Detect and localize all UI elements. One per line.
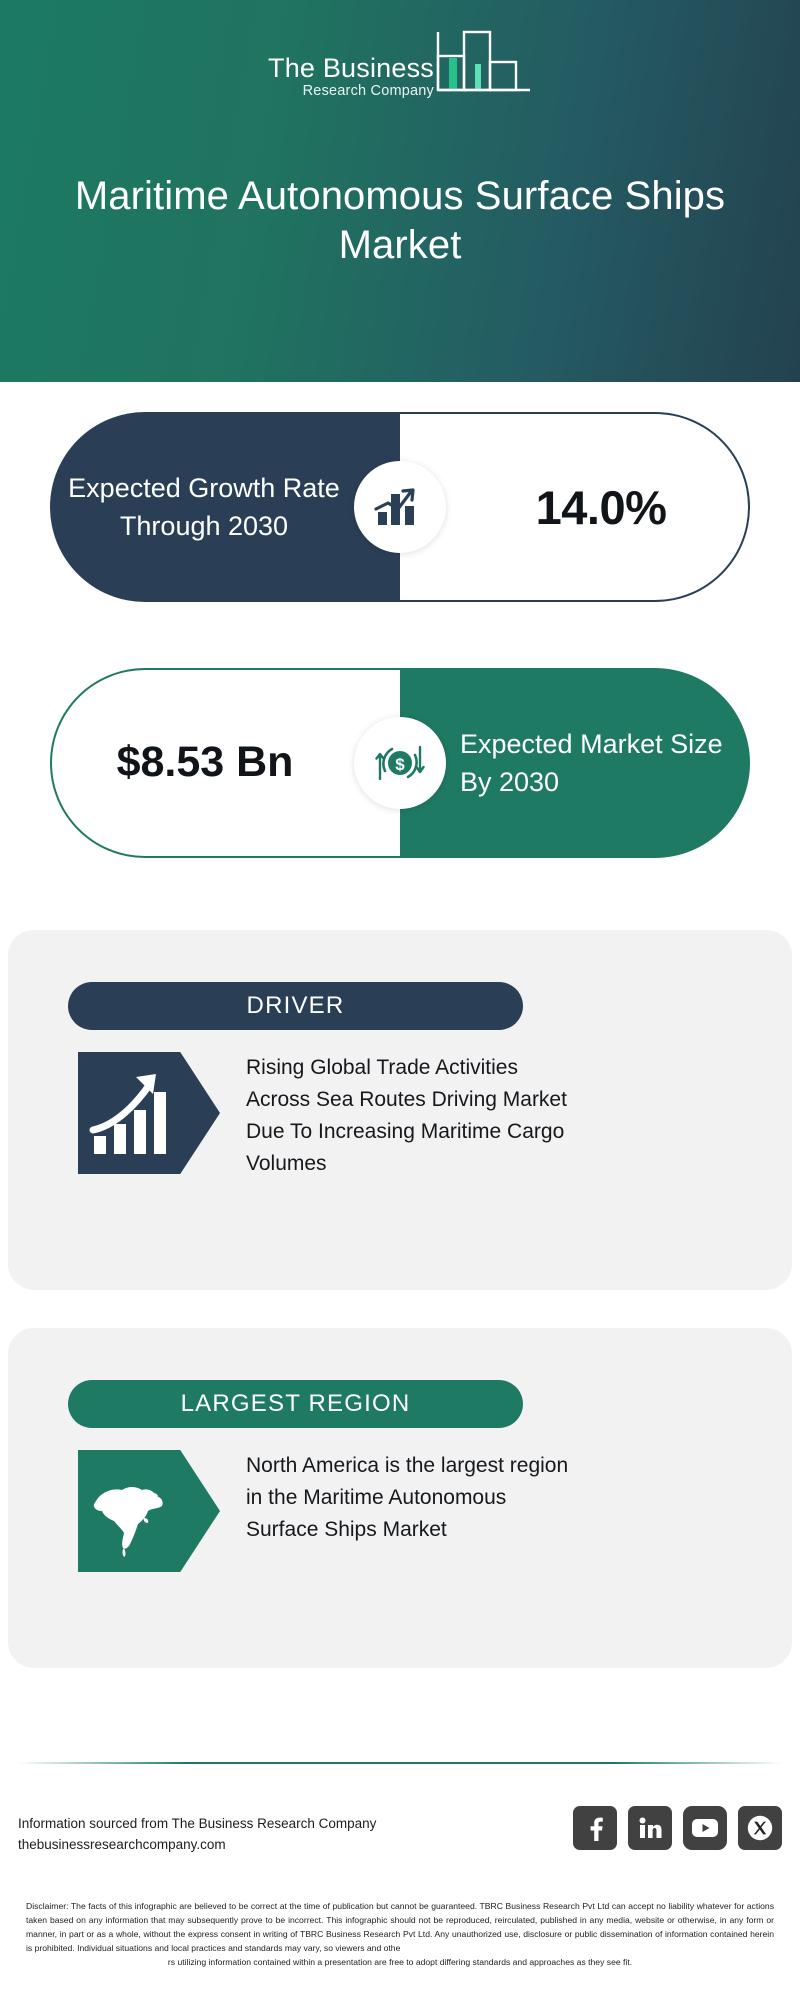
stat-label-panel: Expected Market Size By 2030 [400, 668, 750, 858]
disclaimer-text: Disclaimer: The facts of this infographi… [26, 1900, 774, 1970]
bar-chart-logo-mark [436, 28, 532, 103]
logo-secondary-text: Research Company [303, 83, 434, 100]
north-america-map-icon [78, 1450, 220, 1572]
stat-label: Expected Growth Rate Through 2030 [50, 469, 400, 546]
section-heading-label: LARGEST REGION [181, 1390, 411, 1418]
section-heading-badge: LARGEST REGION [68, 1380, 523, 1428]
svg-text:$: $ [395, 755, 405, 774]
logo-primary-text: The Business [268, 54, 434, 82]
social-links [573, 1806, 782, 1850]
footer-source-info: Information sourced from The Business Re… [18, 1814, 376, 1856]
page-title: Maritime Autonomous Surface Ships Market [0, 172, 800, 270]
section-body-row: North America is the largest region in t… [78, 1450, 576, 1572]
stat-card-market-size: $8.53 Bn Expected Market Size By 2030 $ [50, 668, 750, 858]
disclaimer-main: Disclaimer: The facts of this infographi… [26, 1901, 774, 1953]
stat-card-growth-rate: Expected Growth Rate Through 2030 14.0% [50, 412, 750, 602]
section-body-row: Rising Global Trade Activities Across Se… [78, 1052, 576, 1180]
facebook-icon[interactable] [573, 1806, 617, 1850]
header-banner: The Business Research Company Mari [0, 0, 800, 382]
section-largest-region: LARGEST REGION North America is the larg… [8, 1328, 792, 1668]
linkedin-icon[interactable] [628, 1806, 672, 1850]
section-body-text: North America is the largest region in t… [246, 1450, 576, 1546]
section-driver: DRIVER Rising Global Trade Activities Ac… [8, 930, 792, 1290]
section-body-text: Rising Global Trade Activities Across Se… [246, 1052, 576, 1180]
growth-bar-chart-arrow-icon [78, 1052, 220, 1174]
stat-value: 14.0% [482, 480, 667, 535]
stat-label-panel: Expected Growth Rate Through 2030 [50, 412, 400, 602]
stat-value-panel: $8.53 Bn [50, 668, 400, 858]
section-heading-label: DRIVER [247, 992, 345, 1020]
youtube-icon[interactable] [683, 1806, 727, 1850]
dollar-circular-arrows-icon: $ [354, 717, 446, 809]
footer-divider [18, 1762, 782, 1764]
disclaimer-last-line: rs utilizing information contained withi… [26, 1956, 774, 1970]
stat-label: Expected Market Size By 2030 [400, 725, 750, 802]
footer-source-line-1: Information sourced from The Business Re… [18, 1814, 376, 1835]
stat-value: $8.53 Bn [103, 735, 350, 791]
brand-logo: The Business Research Company [0, 28, 800, 104]
stat-value-panel: 14.0% [400, 412, 750, 602]
footer-website-link[interactable]: thebusinessresearchcompany.com [18, 1835, 376, 1856]
x-twitter-icon[interactable] [738, 1806, 782, 1850]
growth-chart-arrow-icon [354, 461, 446, 553]
section-heading-badge: DRIVER [68, 982, 523, 1030]
infographic-page: The Business Research Company Mari [0, 0, 800, 2000]
